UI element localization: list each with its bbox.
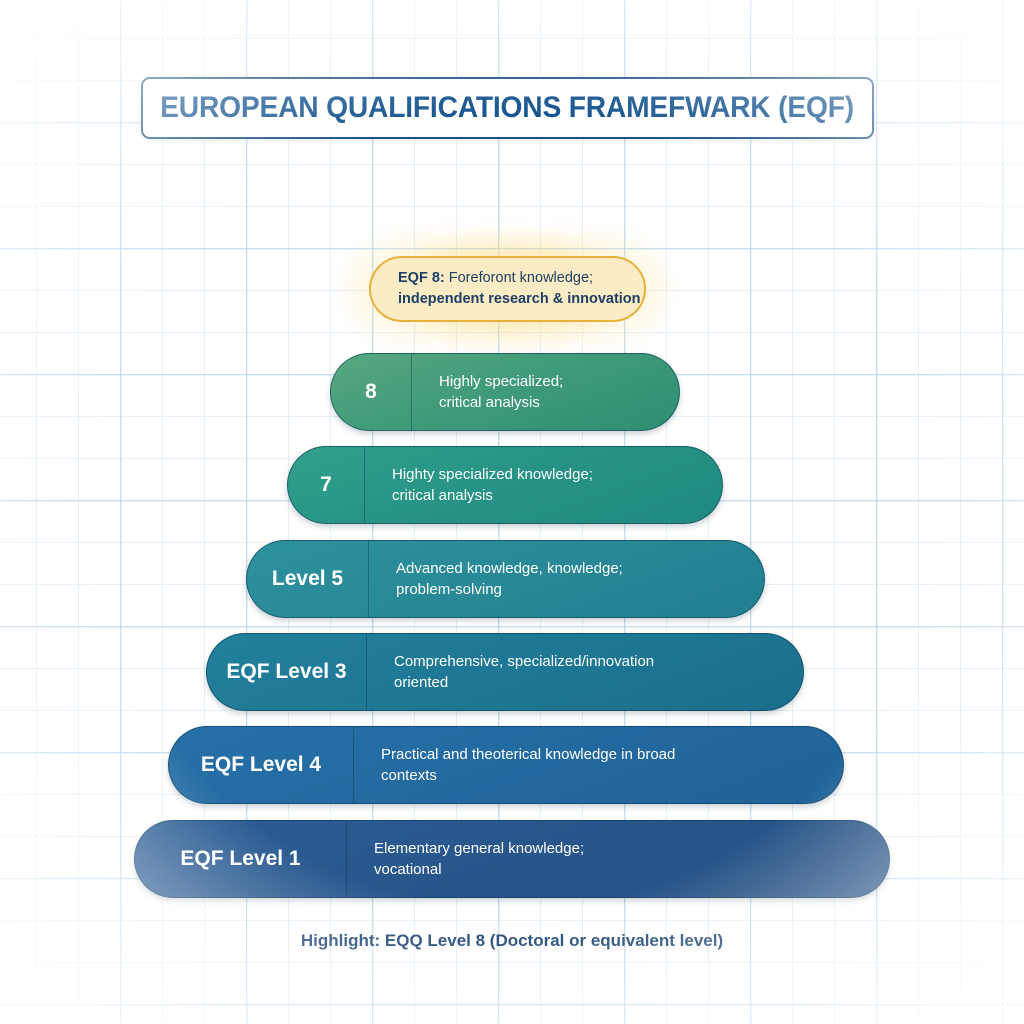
level-label: 8	[331, 354, 412, 430]
diagram-title-box: EUROPEAN QUALIFICATIONS FRAMEFWARK (EQF)	[141, 77, 874, 139]
level-description-line-1: Highly specialized;	[439, 371, 661, 393]
level-description: Highly specialized; critical analysis	[412, 354, 679, 430]
level-label: EQF Level 3	[207, 634, 367, 710]
level-description: Elementary general knowledge; vocational	[347, 821, 889, 897]
level-description-line-1: Highty specialized knowledge;	[392, 464, 704, 486]
callout-lead: EQF 8:	[398, 270, 445, 286]
callout-line-1-rest: Foreforont knowledge;	[445, 270, 593, 286]
page-title: EUROPEAN QUALIFICATIONS FRAMEFWARK (EQF)	[161, 91, 855, 125]
callout-line-2: independent research & innovation	[398, 289, 628, 310]
diagram-canvas: EUROPEAN QUALIFICATIONS FRAMEFWARK (EQF)…	[0, 0, 1024, 1024]
level-description: Highty specialized knowledge; critical a…	[365, 447, 722, 523]
eqf-level-bar-1[interactable]: EQF Level 1 Elementary general knowledge…	[134, 820, 890, 898]
level-description-line-1: Practical and theoterical knowledge in b…	[381, 744, 825, 766]
level-label: 7	[288, 447, 365, 523]
level-description-line-2: vocational	[374, 859, 871, 881]
level-description-line-1: Advanced knowledge, knowledge;	[396, 558, 746, 580]
level-description: Practical and theoterical knowledge in b…	[354, 727, 843, 803]
level-label: Level 5	[247, 541, 369, 617]
eqf-level-bar-5[interactable]: Level 5 Advanced knowledge, knowledge; p…	[246, 540, 765, 618]
eqf-level-bar-8[interactable]: 8 Highly specialized; critical analysis	[330, 353, 680, 431]
level-description: Comprehensive, specialized/innovation or…	[367, 634, 803, 710]
level-label: EQF Level 1	[135, 821, 347, 897]
level-description: Advanced knowledge, knowledge; problem-s…	[369, 541, 764, 617]
level-description-line-1: Elementary general knowledge;	[374, 838, 871, 860]
level-label: EQF Level 4	[169, 727, 354, 803]
footer-caption: Highlight: EQQ Level 8 (Doctoral or equi…	[0, 931, 1024, 951]
level-description-line-2: critical analysis	[392, 485, 704, 507]
level-description-line-2: problem-solving	[396, 579, 746, 601]
callout-line-1: EQF 8: Foreforont knowledge;	[398, 268, 628, 289]
level-description-line-2: critical analysis	[439, 392, 661, 414]
level-description-line-2: contexts	[381, 765, 825, 787]
level-description-line-1: Comprehensive, specialized/innovation	[394, 651, 785, 673]
eqf-level-bar-3[interactable]: EQF Level 3 Comprehensive, specialized/i…	[206, 633, 804, 711]
eqf-level-bar-7[interactable]: 7 Highty specialized knowledge; critical…	[287, 446, 723, 524]
eqf8-highlight-callout: EQF 8: Foreforont knowledge; independent…	[369, 256, 646, 322]
level-description-line-2: oriented	[394, 672, 785, 694]
eqf-level-bar-4[interactable]: EQF Level 4 Practical and theoterical kn…	[168, 726, 844, 804]
